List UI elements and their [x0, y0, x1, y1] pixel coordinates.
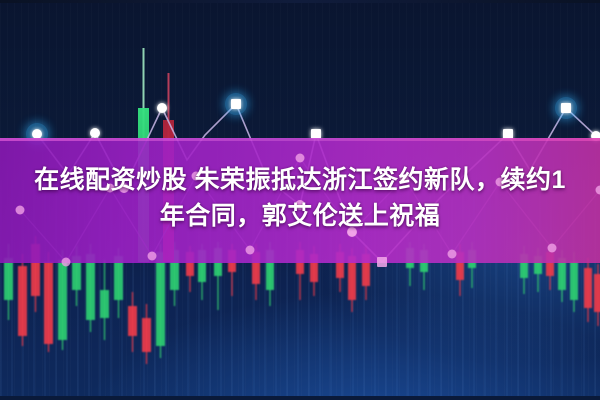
- bottom-edge-line: [0, 396, 600, 400]
- headline-text: 在线配资炒股 朱荣振抵达浙江签约新队，续约1 年合同，郭艾伦送上祝福: [0, 162, 600, 234]
- banner-image: 在线配资炒股 朱荣振抵达浙江签约新队，续约1 年合同，郭艾伦送上祝福: [0, 0, 600, 400]
